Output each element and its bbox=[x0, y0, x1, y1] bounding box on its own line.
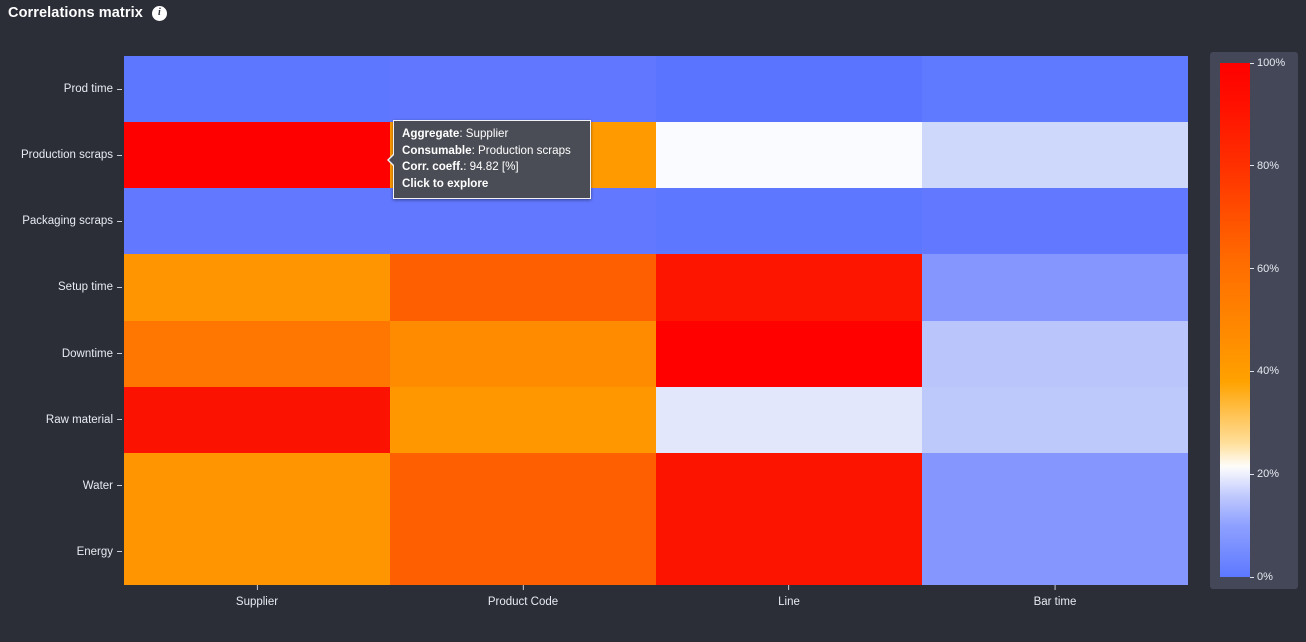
colorbar-tick-mark bbox=[1250, 268, 1254, 269]
y-axis-tick-label: Downtime bbox=[62, 348, 113, 360]
colorbar-tick-label: 60% bbox=[1257, 263, 1279, 275]
correlations-matrix-widget: Correlations matrix i Prod timeProductio… bbox=[0, 0, 1306, 642]
heatmap-cell[interactable] bbox=[390, 56, 656, 122]
heatmap-cell[interactable] bbox=[922, 254, 1188, 320]
tooltip-key-aggregate: Aggregate bbox=[402, 127, 459, 140]
colorbar-panel: 100%80%60%40%20%0% bbox=[1210, 52, 1298, 589]
tooltip-key-consumable: Consumable bbox=[402, 144, 472, 157]
tooltip-value-consumable: Production scraps bbox=[478, 144, 571, 157]
heatmap-cell[interactable] bbox=[124, 56, 390, 122]
heatmap-plot-area bbox=[124, 56, 1188, 585]
heatmap-cell[interactable] bbox=[656, 519, 922, 585]
x-axis-tick-mark bbox=[256, 585, 257, 590]
y-axis-tick-mark bbox=[117, 353, 122, 354]
y-axis-tick-label: Production scraps bbox=[21, 149, 113, 161]
cell-tooltip: Aggregate: Supplier Consumable: Producti… bbox=[393, 120, 591, 199]
colorbar-gradient bbox=[1220, 63, 1250, 577]
x-axis: SupplierProduct CodeLineBar time bbox=[124, 585, 1188, 625]
x-axis-tick-label: Bar time bbox=[1034, 596, 1077, 608]
colorbar-tick-mark bbox=[1250, 474, 1254, 475]
tooltip-value-corr-coeff: 94.82 [%] bbox=[470, 160, 519, 173]
colorbar-tick-label: 20% bbox=[1257, 468, 1279, 480]
colorbar-tick-label: 100% bbox=[1257, 57, 1285, 69]
colorbar-tick: 80% bbox=[1250, 160, 1279, 172]
y-axis-tick-mark bbox=[117, 155, 122, 156]
y-axis-tick-label: Packaging scraps bbox=[22, 215, 113, 227]
y-axis-tick: Raw material bbox=[0, 387, 124, 453]
heatmap-cell[interactable] bbox=[656, 122, 922, 188]
y-axis-tick: Water bbox=[0, 453, 124, 519]
y-axis-tick-mark bbox=[117, 551, 122, 552]
heatmap-cell[interactable] bbox=[124, 321, 390, 387]
x-axis-tick-mark bbox=[789, 585, 790, 590]
x-axis-tick-label: Supplier bbox=[236, 596, 278, 608]
heatmap-cell[interactable] bbox=[124, 519, 390, 585]
y-axis-tick-mark bbox=[117, 419, 122, 420]
tooltip-value-aggregate: Supplier bbox=[466, 127, 509, 140]
widget-header: Correlations matrix i bbox=[8, 5, 167, 21]
tooltip-key-corr-coeff: Corr. coeff. bbox=[402, 160, 463, 173]
y-axis-tick-label: Raw material bbox=[46, 414, 113, 426]
heatmap-cell[interactable] bbox=[922, 188, 1188, 254]
heatmap-cell[interactable] bbox=[656, 188, 922, 254]
y-axis-tick-mark bbox=[117, 485, 122, 486]
heatmap-cell[interactable] bbox=[656, 453, 922, 519]
x-axis-tick: Product Code bbox=[488, 585, 558, 608]
y-axis-tick-mark bbox=[117, 89, 122, 90]
colorbar-tick: 0% bbox=[1250, 571, 1273, 583]
y-axis-tick-mark bbox=[117, 287, 122, 288]
heatmap-cell[interactable] bbox=[390, 321, 656, 387]
y-axis-tick-mark bbox=[117, 221, 122, 222]
y-axis: Prod timeProduction scrapsPackaging scra… bbox=[0, 56, 124, 585]
tooltip-cta: Click to explore bbox=[402, 176, 582, 193]
y-axis-tick-label: Energy bbox=[77, 546, 113, 558]
y-axis-tick-label: Water bbox=[83, 480, 113, 492]
heatmap-cell[interactable] bbox=[656, 387, 922, 453]
heatmap-cell[interactable] bbox=[656, 321, 922, 387]
heatmap-cell[interactable] bbox=[922, 453, 1188, 519]
tooltip-row-consumable: Consumable: Production scraps bbox=[402, 143, 582, 160]
heatmap-cell[interactable] bbox=[390, 387, 656, 453]
page-title: Correlations matrix bbox=[8, 5, 143, 21]
colorbar-tick: 60% bbox=[1250, 263, 1279, 275]
heatmap-cell[interactable] bbox=[124, 387, 390, 453]
heatmap-cell[interactable] bbox=[656, 56, 922, 122]
tooltip-row-corr-coeff: Corr. coeff.: 94.82 [%] bbox=[402, 159, 582, 176]
y-axis-tick: Energy bbox=[0, 519, 124, 585]
heatmap-cell[interactable] bbox=[922, 321, 1188, 387]
y-axis-tick: Production scraps bbox=[0, 122, 124, 188]
heatmap-cell[interactable] bbox=[922, 56, 1188, 122]
y-axis-tick-label: Prod time bbox=[64, 83, 113, 95]
y-axis-tick: Setup time bbox=[0, 254, 124, 320]
y-axis-tick: Packaging scraps bbox=[0, 188, 124, 254]
y-axis-tick: Prod time bbox=[0, 56, 124, 122]
colorbar-tick-mark bbox=[1250, 165, 1254, 166]
x-axis-tick-mark bbox=[522, 585, 523, 590]
colorbar-tick-label: 80% bbox=[1257, 160, 1279, 172]
heatmap-cell[interactable] bbox=[390, 519, 656, 585]
x-axis-tick: Bar time bbox=[1034, 585, 1077, 608]
x-axis-tick: Supplier bbox=[236, 585, 278, 608]
y-axis-tick: Downtime bbox=[0, 321, 124, 387]
heatmap-cell[interactable] bbox=[922, 122, 1188, 188]
heatmap-cell[interactable] bbox=[390, 453, 656, 519]
heatmap-cell[interactable] bbox=[124, 453, 390, 519]
colorbar-tick-label: 0% bbox=[1257, 571, 1273, 583]
info-icon[interactable]: i bbox=[152, 6, 167, 21]
colorbar-tick: 100% bbox=[1250, 57, 1285, 69]
x-axis-tick-mark bbox=[1054, 585, 1055, 590]
heatmap-cell[interactable] bbox=[390, 254, 656, 320]
colorbar-tick-label: 40% bbox=[1257, 365, 1279, 377]
heatmap-cell[interactable] bbox=[656, 254, 922, 320]
x-axis-tick: Line bbox=[778, 585, 800, 608]
heatmap-grid[interactable] bbox=[124, 56, 1188, 585]
colorbar-tick-mark bbox=[1250, 577, 1254, 578]
y-axis-tick-label: Setup time bbox=[58, 281, 113, 293]
colorbar-tick: 40% bbox=[1250, 365, 1279, 377]
x-axis-tick-label: Product Code bbox=[488, 596, 558, 608]
x-axis-tick-label: Line bbox=[778, 596, 800, 608]
colorbar-tick: 20% bbox=[1250, 468, 1279, 480]
tooltip-arrow bbox=[389, 154, 395, 166]
colorbar-tick-mark bbox=[1250, 63, 1254, 64]
heatmap-cell[interactable] bbox=[124, 188, 390, 254]
heatmap-cell[interactable] bbox=[922, 519, 1188, 585]
heatmap-cell[interactable] bbox=[124, 122, 390, 188]
tooltip-row-aggregate: Aggregate: Supplier bbox=[402, 126, 582, 143]
heatmap-cell[interactable] bbox=[922, 387, 1188, 453]
heatmap-cell[interactable] bbox=[124, 254, 390, 320]
colorbar-tick-mark bbox=[1250, 371, 1254, 372]
